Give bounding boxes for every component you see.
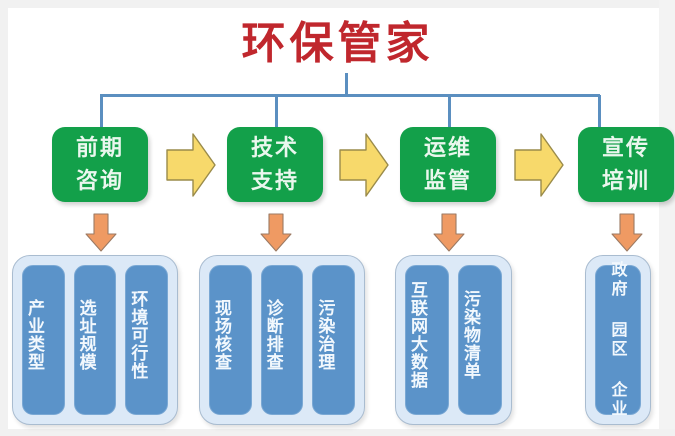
deliverable-pill[interactable]: 互联网大数据 xyxy=(405,265,449,415)
stage-label-line2: 监管 xyxy=(424,165,472,198)
connector-horizontal-bar xyxy=(100,94,600,97)
deliverable-pill[interactable]: 环境可行性 xyxy=(125,265,168,415)
arrow-down-icon xyxy=(610,212,644,253)
stage-label-line2: 支持 xyxy=(251,165,299,198)
stage-box-xuanchuan-peixun[interactable]: 宣传 培训 xyxy=(578,127,674,202)
connector-stem xyxy=(345,73,348,96)
deliverable-pill[interactable]: 污染治理 xyxy=(312,265,355,415)
stage-label-line1: 运维 xyxy=(424,132,472,165)
connector-drop-2 xyxy=(275,95,278,127)
deliverable-pill[interactable]: 污染物清单 xyxy=(458,265,502,415)
connector-drop-1 xyxy=(100,95,103,127)
deliverable-group-2: 现场核查 诊断排查 污染治理 xyxy=(199,255,365,425)
stage-label-line2: 培训 xyxy=(602,165,650,198)
diagram-canvas: 环保管家 前期 咨询 技术 支持 运维 监管 宣传 培训 xyxy=(0,0,675,436)
diagram-title: 环保管家 xyxy=(0,18,675,70)
arrow-down-icon xyxy=(84,212,118,253)
deliverable-pill[interactable]: 选址规模 xyxy=(74,265,117,415)
page-margin-bottom xyxy=(0,429,675,436)
connector-drop-3 xyxy=(448,95,451,127)
chevron-right-arrow-icon xyxy=(338,132,390,198)
chevron-right-arrow-icon xyxy=(513,132,565,198)
stage-label-line1: 技术 xyxy=(251,132,299,165)
connector-drop-4 xyxy=(598,95,601,127)
deliverable-group-4: 政府 园区 企业 xyxy=(585,255,651,425)
deliverable-group-3: 互联网大数据 污染物清单 xyxy=(395,255,512,425)
stage-label-line2: 咨询 xyxy=(76,165,124,198)
page-margin-top xyxy=(0,0,675,8)
stage-box-yunwei-jianguan[interactable]: 运维 监管 xyxy=(400,127,496,202)
deliverable-pill[interactable]: 政府 园区 企业 xyxy=(595,265,641,415)
stage-box-jishu-zhichi[interactable]: 技术 支持 xyxy=(227,127,323,202)
deliverable-pill[interactable]: 现场核查 xyxy=(209,265,252,415)
chevron-right-arrow-icon xyxy=(165,132,217,198)
stage-label-line1: 宣传 xyxy=(602,132,650,165)
stage-label-line1: 前期 xyxy=(76,132,124,165)
arrow-down-icon xyxy=(432,212,466,253)
stage-box-qianqi-zixun[interactable]: 前期 咨询 xyxy=(52,127,148,202)
deliverable-pill[interactable]: 诊断排查 xyxy=(261,265,304,415)
deliverable-group-1: 产业类型 选址规模 环境可行性 xyxy=(12,255,178,425)
deliverable-pill[interactable]: 产业类型 xyxy=(22,265,65,415)
arrow-down-icon xyxy=(259,212,293,253)
